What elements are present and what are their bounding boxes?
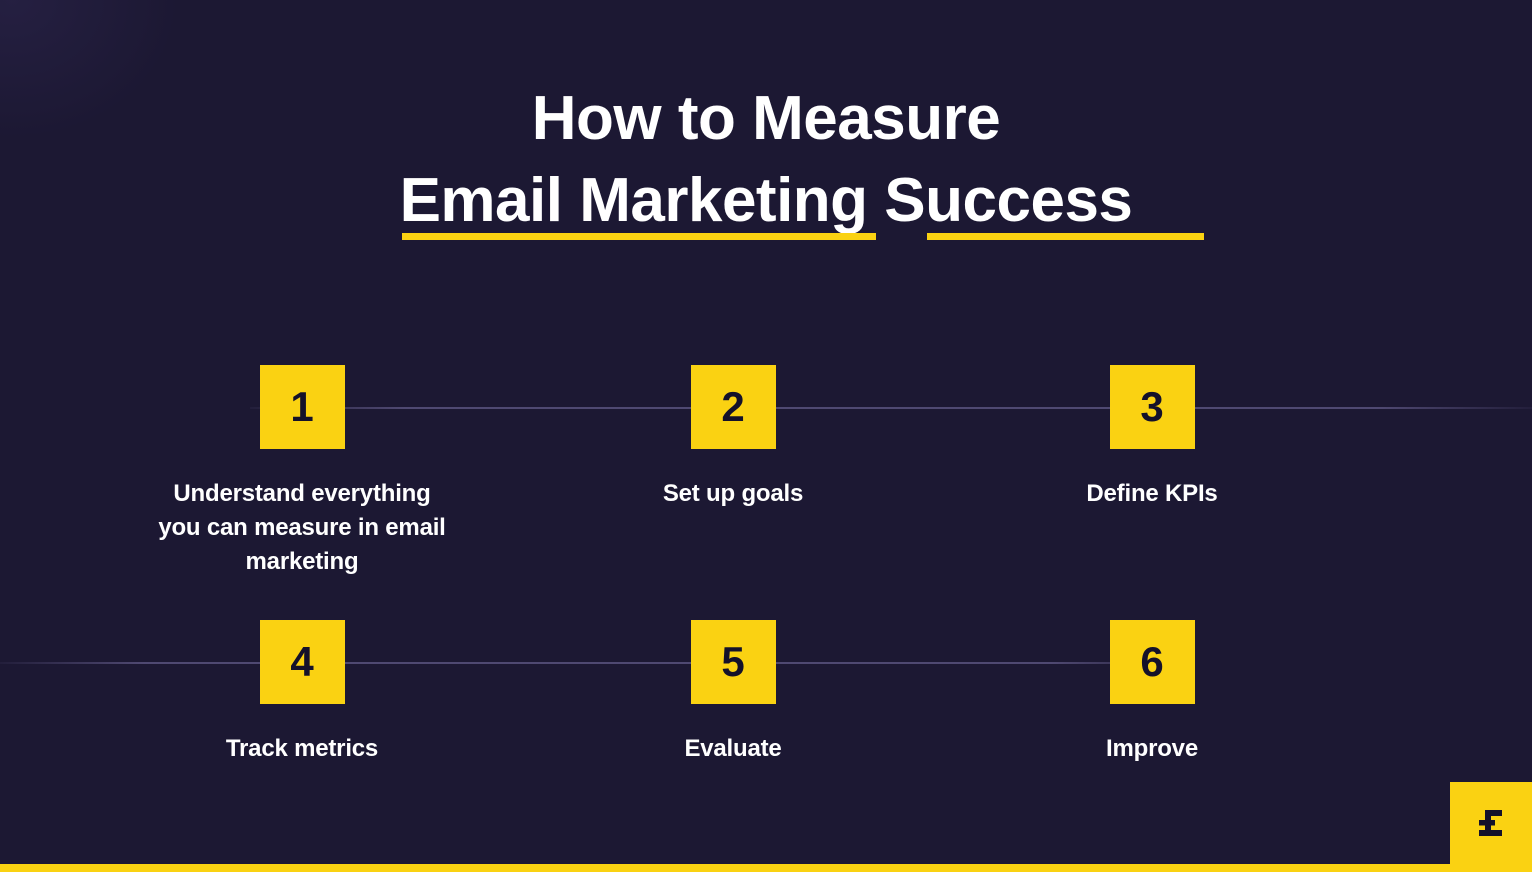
slide-canvas: How to Measure Email Marketing Success 1… bbox=[0, 0, 1532, 872]
bottom-accent-stripe bbox=[0, 864, 1532, 872]
step-number-box-1: 1 bbox=[260, 365, 345, 449]
step-number-box-3: 3 bbox=[1110, 365, 1195, 449]
step-item-1: 1 Understand everything you can measure … bbox=[152, 365, 452, 579]
step-label-1: Understand everything you can measure in… bbox=[157, 477, 447, 579]
step-item-2: 2 Set up goals bbox=[583, 365, 883, 511]
step-label-3: Define KPIs bbox=[1002, 477, 1302, 511]
title-underline-segment-2 bbox=[927, 233, 1204, 240]
step-label-6: Improve bbox=[1002, 732, 1302, 766]
step-label-4: Track metrics bbox=[152, 732, 452, 766]
page-title: How to Measure Email Marketing Success bbox=[0, 78, 1532, 242]
steps-row-top: 1 Understand everything you can measure … bbox=[0, 365, 1532, 565]
pound-monogram-icon bbox=[1471, 803, 1511, 843]
step-label-5: Evaluate bbox=[583, 732, 883, 766]
step-number-2: 2 bbox=[721, 386, 744, 428]
title-line-1: How to Measure bbox=[0, 78, 1532, 160]
step-item-5: 5 Evaluate bbox=[583, 620, 883, 766]
title-underline-segment-1 bbox=[402, 233, 876, 240]
step-number-1: 1 bbox=[290, 386, 313, 428]
brand-logo-badge bbox=[1450, 782, 1532, 864]
step-number-box-4: 4 bbox=[260, 620, 345, 704]
step-number-4: 4 bbox=[290, 641, 313, 683]
step-number-3: 3 bbox=[1140, 386, 1163, 428]
step-number-box-2: 2 bbox=[691, 365, 776, 449]
step-number-6: 6 bbox=[1140, 641, 1163, 683]
title-line-2-wrapper: Email Marketing Success bbox=[400, 160, 1133, 242]
step-number-box-6: 6 bbox=[1110, 620, 1195, 704]
step-item-6: 6 Improve bbox=[1002, 620, 1302, 766]
step-number-box-5: 5 bbox=[691, 620, 776, 704]
step-label-2: Set up goals bbox=[583, 477, 883, 511]
step-number-5: 5 bbox=[721, 641, 744, 683]
steps-row-bottom: 4 Track metrics 5 Evaluate 6 Improve bbox=[0, 620, 1532, 820]
title-line-2: Email Marketing Success bbox=[400, 166, 1133, 235]
step-item-4: 4 Track metrics bbox=[152, 620, 452, 766]
step-item-3: 3 Define KPIs bbox=[1002, 365, 1302, 511]
